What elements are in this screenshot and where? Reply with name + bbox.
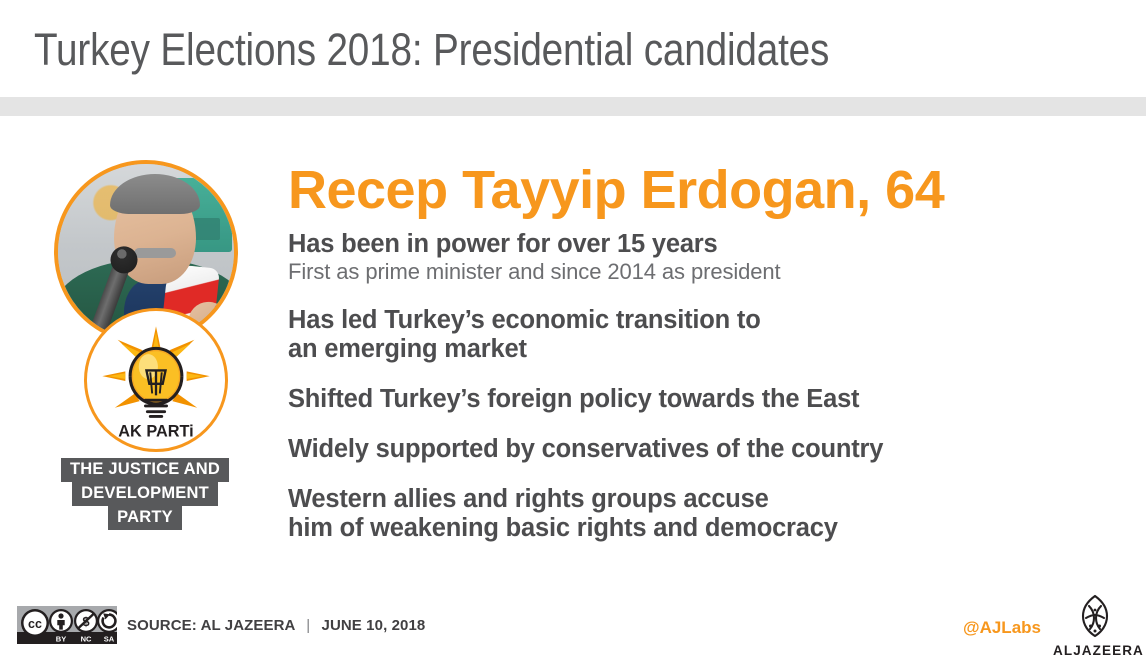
fact-subline: First as prime minister and since 2014 a… <box>288 259 1116 285</box>
fact-item: Has been in power for over 15 years Firs… <box>288 230 1116 285</box>
party-name-line-3: PARTY <box>108 506 182 530</box>
fact-headline: Western allies and rights groups accuse … <box>288 485 1116 543</box>
candidate-facts-list: Has been in power for over 15 years Firs… <box>288 230 1116 543</box>
fact-item: Shifted Turkey’s foreign policy towards … <box>288 385 1116 414</box>
license-badge[interactable]: cc $ BY NC SA <box>17 606 117 644</box>
infographic-card: Turkey Elections 2018: Presidential cand… <box>0 0 1146 670</box>
footer: cc $ BY NC SA <box>0 592 1146 670</box>
svg-text:cc: cc <box>28 617 42 631</box>
fact-headline: Shifted Turkey’s foreign policy towards … <box>288 385 1116 414</box>
fact-item: Widely supported by conservatives of the… <box>288 435 1116 464</box>
party-emblem-label: AK PARTi <box>118 423 193 441</box>
header-divider-band <box>0 97 1146 116</box>
license-label-sa: SA <box>104 635 115 644</box>
party-emblem: AK PARTi <box>84 308 228 452</box>
source-separator: | <box>306 617 310 635</box>
aljazeera-brand: ALJAZEERA <box>1053 594 1137 660</box>
publication-date: JUNE 10, 2018 <box>322 617 426 634</box>
party-name-line-2: DEVELOPMENT <box>72 482 218 506</box>
page-title: Turkey Elections 2018: Presidential cand… <box>34 24 829 76</box>
party-name-block: THE JUSTICE AND DEVELOPMENT PARTY <box>34 458 256 530</box>
ajlabs-handle[interactable]: @AJLabs <box>963 618 1041 638</box>
fact-item: Western allies and rights groups accuse … <box>288 485 1116 543</box>
fact-headline: Widely supported by conservatives of the… <box>288 435 1116 464</box>
fact-headline: Has been in power for over 15 years <box>288 230 1116 259</box>
candidate-name: Recep Tayyip Erdogan, 64 <box>288 160 1116 220</box>
party-name-line-1: THE JUSTICE AND <box>61 458 229 482</box>
license-label-nc: NC <box>81 635 92 644</box>
portrait-moustache <box>134 248 176 258</box>
fact-item: Has led Turkey’s economic transition to … <box>288 306 1116 364</box>
aljazeera-wordmark: ALJAZEERA <box>1053 643 1137 658</box>
candidate-details-panel: Recep Tayyip Erdogan, 64 Has been in pow… <box>288 160 1116 543</box>
creative-commons-by-nc-sa-icon: cc $ BY NC SA <box>17 606 117 644</box>
lightbulb-sun-icon: AK PARTi <box>87 311 225 449</box>
fact-headline: Has led Turkey’s economic transition to … <box>288 306 1116 364</box>
license-label-by: BY <box>56 635 66 644</box>
source-line: SOURCE: AL JAZEERA | JUNE 10, 2018 <box>127 617 425 635</box>
source-label: SOURCE: AL JAZEERA <box>127 617 295 634</box>
aljazeera-logo-icon <box>1072 594 1118 642</box>
